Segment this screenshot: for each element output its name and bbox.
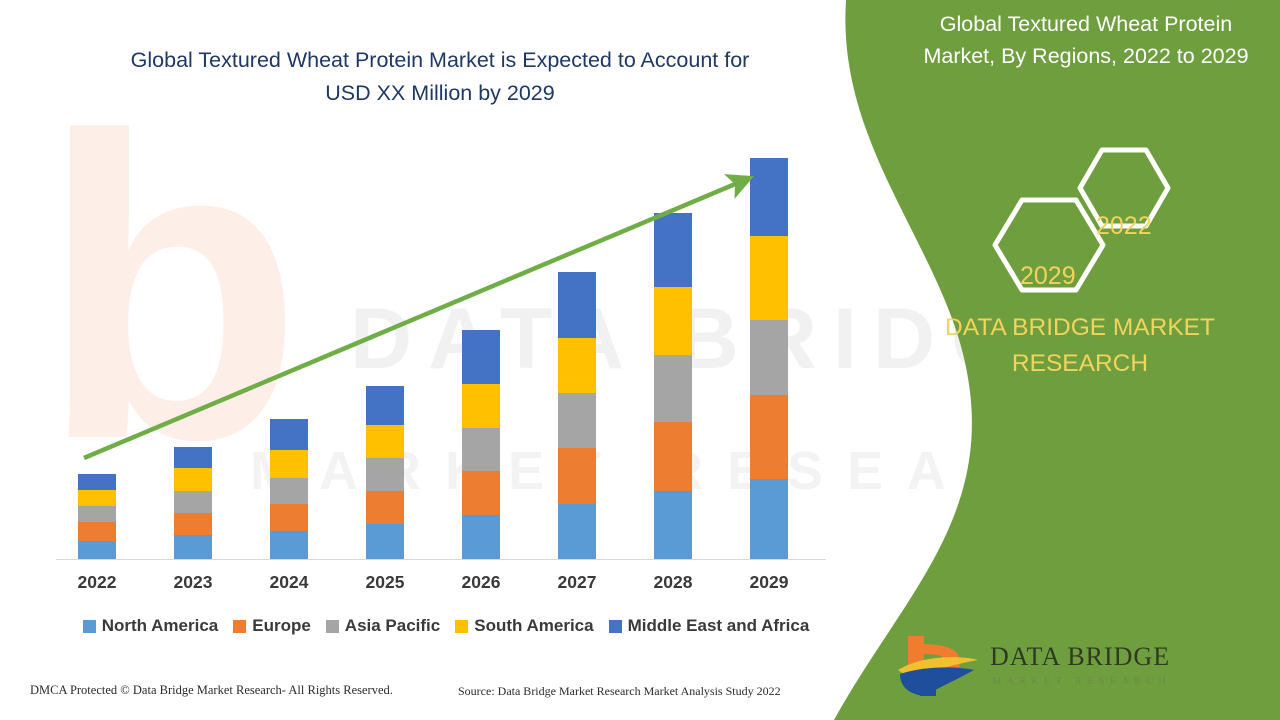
bar-2023[interactable] xyxy=(174,447,212,559)
panel-title: Global Textured Wheat Protein Market, By… xyxy=(890,8,1280,73)
bar-segment[interactable] xyxy=(366,386,404,425)
legend-item-south-america[interactable]: South America xyxy=(455,616,593,636)
bar-segment[interactable] xyxy=(750,236,788,319)
footer-copyright: DMCA Protected © Data Bridge Market Rese… xyxy=(30,683,393,698)
legend-swatch-icon xyxy=(326,620,339,633)
chart-legend: North AmericaEuropeAsia PacificSouth Ame… xyxy=(56,616,836,636)
bar-segment[interactable] xyxy=(750,479,788,559)
x-axis-label-2026: 2026 xyxy=(441,572,521,593)
x-axis-label-2029: 2029 xyxy=(729,572,809,593)
brand-text: DATA BRIDGE MARKET RESEARCH xyxy=(900,310,1260,381)
x-axis-label-2023: 2023 xyxy=(153,572,233,593)
bar-segment[interactable] xyxy=(78,506,116,522)
bar-segment[interactable] xyxy=(366,458,404,491)
bar-2025[interactable] xyxy=(366,386,404,559)
bar-segment[interactable] xyxy=(78,522,116,540)
hexagon-outlines-icon xyxy=(980,140,1200,295)
bar-segment[interactable] xyxy=(462,384,500,428)
bar-segment[interactable] xyxy=(270,478,308,504)
hexagon-group: 2022 2029 xyxy=(980,140,1200,295)
x-axis-label-2024: 2024 xyxy=(249,572,329,593)
bar-2028[interactable] xyxy=(654,213,692,559)
bar-segment[interactable] xyxy=(270,450,308,478)
bar-2029[interactable] xyxy=(750,158,788,559)
x-axis-label-2022: 2022 xyxy=(57,572,137,593)
data-bridge-logo: DATA BRIDGE MARKET RESEARCH xyxy=(890,630,1220,710)
x-axis-label-2028: 2028 xyxy=(633,572,713,593)
logo-tagline: MARKET RESEARCH xyxy=(992,676,1171,687)
bar-segment[interactable] xyxy=(462,471,500,515)
legend-label: Asia Pacific xyxy=(345,616,440,636)
legend-item-europe[interactable]: Europe xyxy=(233,616,311,636)
legend-label: Europe xyxy=(252,616,311,636)
brand-text-line1: DATA BRIDGE MARKET xyxy=(900,310,1260,346)
bar-segment[interactable] xyxy=(174,491,212,513)
bar-segment[interactable] xyxy=(558,504,596,559)
legend-label: Middle East and Africa xyxy=(628,616,810,636)
bar-2022[interactable] xyxy=(78,474,116,559)
bar-segment[interactable] xyxy=(366,425,404,457)
panel-title-line1: Global Textured Wheat Protein xyxy=(890,8,1280,40)
logo-mark-icon xyxy=(890,630,985,700)
legend-swatch-icon xyxy=(233,620,246,633)
bar-segment[interactable] xyxy=(558,393,596,448)
hexagon-2022-label: 2022 xyxy=(1096,212,1152,241)
bar-segment[interactable] xyxy=(750,320,788,396)
bar-segment[interactable] xyxy=(462,330,500,384)
x-axis-label-2027: 2027 xyxy=(537,572,617,593)
infographic-canvas: b DATA BRIDGE MARKET RESEARCH Global Tex… xyxy=(0,0,1280,720)
bar-segment[interactable] xyxy=(462,515,500,559)
bar-segment[interactable] xyxy=(78,541,116,559)
bar-segment[interactable] xyxy=(558,448,596,504)
bar-segment[interactable] xyxy=(270,531,308,559)
legend-item-asia-pacific[interactable]: Asia Pacific xyxy=(326,616,440,636)
growth-arrow-icon xyxy=(56,150,826,560)
hexagon-2029-label: 2029 xyxy=(1020,262,1076,291)
bar-segment[interactable] xyxy=(750,395,788,479)
bar-segment[interactable] xyxy=(78,490,116,506)
bar-segment[interactable] xyxy=(174,447,212,469)
bar-segment[interactable] xyxy=(174,468,212,491)
bar-segment[interactable] xyxy=(366,491,404,524)
bar-segment[interactable] xyxy=(366,524,404,559)
bar-2024[interactable] xyxy=(270,419,308,559)
bar-segment[interactable] xyxy=(78,474,116,490)
legend-swatch-icon xyxy=(455,620,468,633)
green-panel-content: Global Textured Wheat Protein Market, By… xyxy=(880,0,1280,720)
bar-segment[interactable] xyxy=(654,213,692,287)
bar-segment[interactable] xyxy=(654,287,692,355)
chart-title-line2: USD XX Million by 2029 xyxy=(70,77,810,110)
chart-title: Global Textured Wheat Protein Market is … xyxy=(70,44,810,111)
bar-segment[interactable] xyxy=(174,535,212,559)
footer-source: Source: Data Bridge Market Research Mark… xyxy=(458,684,781,699)
panel-title-line2: Market, By Regions, 2022 to 2029 xyxy=(890,40,1280,72)
bar-segment[interactable] xyxy=(462,428,500,470)
logo-name: DATA BRIDGE xyxy=(990,642,1170,672)
legend-label: South America xyxy=(474,616,593,636)
x-axis-line xyxy=(56,559,826,560)
legend-swatch-icon xyxy=(83,620,96,633)
legend-swatch-icon xyxy=(609,620,622,633)
legend-label: North America xyxy=(102,616,219,636)
chart-plot-area xyxy=(56,150,826,560)
bar-segment[interactable] xyxy=(654,491,692,559)
bar-segment[interactable] xyxy=(558,338,596,393)
bar-2027[interactable] xyxy=(558,272,596,559)
brand-text-line2: RESEARCH xyxy=(900,346,1260,382)
x-axis-label-2025: 2025 xyxy=(345,572,425,593)
legend-item-middle-east-and-africa[interactable]: Middle East and Africa xyxy=(609,616,810,636)
bar-segment[interactable] xyxy=(558,272,596,338)
bar-segment[interactable] xyxy=(654,422,692,491)
bar-segment[interactable] xyxy=(270,419,308,450)
bar-segment[interactable] xyxy=(174,513,212,536)
bar-2026[interactable] xyxy=(462,330,500,559)
bar-segment[interactable] xyxy=(270,504,308,531)
legend-item-north-america[interactable]: North America xyxy=(83,616,219,636)
chart-title-line1: Global Textured Wheat Protein Market is … xyxy=(70,44,810,77)
x-axis-labels: 20222023202420252026202720282029 xyxy=(56,572,826,598)
bar-segment[interactable] xyxy=(654,355,692,422)
bar-segment[interactable] xyxy=(750,158,788,237)
